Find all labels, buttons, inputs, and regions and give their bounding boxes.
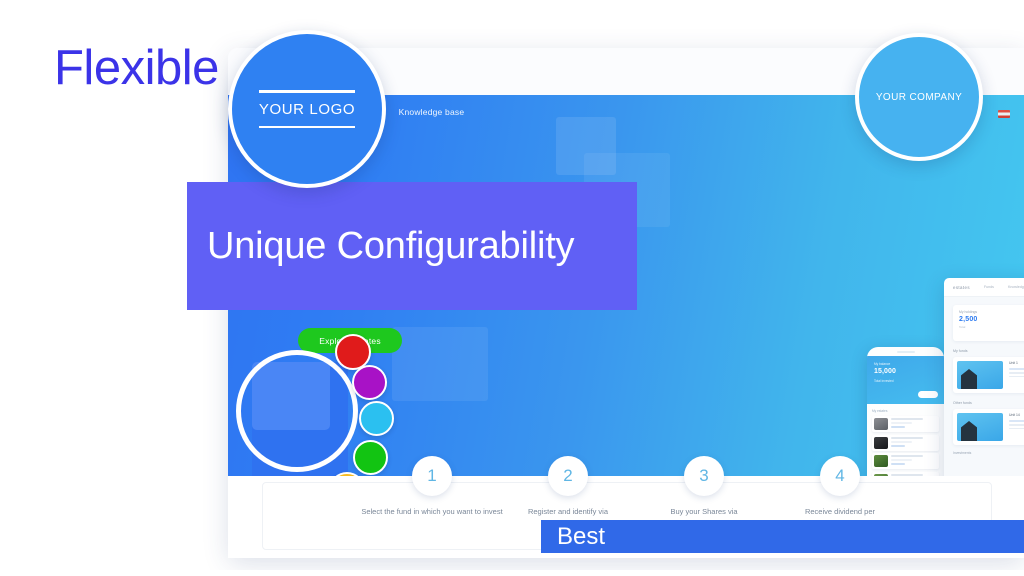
phone-mockup: My balance 15,000 Total invested My esta…	[867, 347, 944, 476]
list-item-lines	[891, 418, 937, 430]
your-logo-badge: YOUR LOGO	[228, 30, 386, 188]
step-text-4: Receive dividend per	[765, 506, 915, 518]
step-text-2: Register and identify via	[493, 506, 643, 518]
phone-balance-value: 15,000	[874, 368, 937, 375]
bottom-edge	[0, 570, 1024, 576]
color-dot-green[interactable]	[353, 440, 388, 475]
property-thumbnail-icon	[957, 361, 1003, 389]
decor-white-ring	[236, 350, 358, 472]
thumbnail-icon	[874, 418, 888, 430]
dashboard-body: My holdings 2,500 Total My interest rate…	[944, 297, 1024, 476]
dashboard-mockup: estates Funds Knowledge base My Profile …	[944, 278, 1024, 476]
list-item[interactable]	[872, 416, 939, 432]
phone-balance-label: My balance	[874, 362, 937, 366]
row-primary: Unit 1	[1009, 361, 1024, 389]
list-item[interactable]	[872, 435, 939, 451]
phone-list-heading: My estates	[872, 409, 939, 413]
thumbnail-icon	[874, 437, 888, 449]
logo-text: YOUR LOGO	[259, 101, 355, 118]
step-number-4: 4	[820, 456, 860, 496]
step-number-1: 1	[412, 456, 452, 496]
best-text: Best	[541, 523, 605, 551]
table-row[interactable]: Unit 1 Estate fee Total investment	[953, 357, 1024, 393]
color-dot-purple[interactable]	[352, 365, 387, 400]
row-title: Unit 1	[1009, 361, 1024, 365]
screenshot-stage: Funds Knowledge base Explore estates My …	[0, 0, 1024, 576]
step-number-2: 2	[548, 456, 588, 496]
dashboard-nav-knowledge[interactable]: Knowledge base	[1008, 285, 1024, 289]
dashboard-footer-label: Investments	[953, 451, 1024, 455]
flexible-headline: Flexible	[54, 44, 219, 93]
dashboard-funds-heading: My funds	[953, 349, 1024, 353]
phone-balance-header: My balance 15,000 Total invested	[867, 356, 944, 404]
row-primary: Unit 14	[1009, 413, 1024, 441]
stat-card-holdings: My holdings 2,500 Total	[953, 305, 1024, 341]
flag-icon[interactable]	[998, 110, 1010, 118]
phone-estate-list: My estates	[872, 409, 939, 476]
dashboard-nav-funds[interactable]: Funds	[984, 285, 994, 289]
decor-square	[392, 327, 488, 401]
nav-item-knowledge-base[interactable]: Knowledge base	[399, 107, 465, 117]
stat-value: 2,500	[959, 316, 1024, 323]
logo-rule-top	[259, 90, 355, 93]
phone-balance-sub: Total invested	[874, 379, 937, 383]
dashboard-brand: estates	[953, 285, 970, 290]
list-item-lines	[891, 455, 937, 467]
your-company-badge: YOUR COMPANY	[855, 33, 983, 161]
company-text: YOUR COMPANY	[876, 92, 962, 103]
phone-speaker	[897, 351, 915, 353]
headline-banner: Unique Configurability	[187, 182, 637, 310]
thumbnail-icon	[874, 455, 888, 467]
table-row[interactable]: Unit 14 Estate fee Funded	[953, 409, 1024, 445]
dashboard-stat-cards: My holdings 2,500 Total My interest rate…	[953, 305, 1024, 341]
list-item[interactable]	[872, 453, 939, 469]
best-banner: Best	[541, 520, 1024, 553]
property-thumbnail-icon	[957, 413, 1003, 441]
color-dot-cyan[interactable]	[359, 401, 394, 436]
step-number-3: 3	[684, 456, 724, 496]
stat-sub: Total	[959, 325, 1024, 329]
logo-rule-bottom	[259, 126, 355, 129]
step-text-1: Select the fund in which you want to inv…	[357, 506, 507, 518]
step-text-3: Buy your Shares via	[629, 506, 779, 518]
stat-label: My holdings	[959, 310, 1024, 314]
phone-action-pill[interactable]	[918, 391, 938, 398]
headline-text: Unique Configurability	[187, 225, 574, 268]
row-title: Unit 14	[1009, 413, 1024, 417]
dashboard-navbar: estates Funds Knowledge base My Profile	[944, 278, 1024, 297]
dashboard-other-heading: Other funds	[953, 401, 1024, 405]
list-item-lines	[891, 437, 937, 449]
